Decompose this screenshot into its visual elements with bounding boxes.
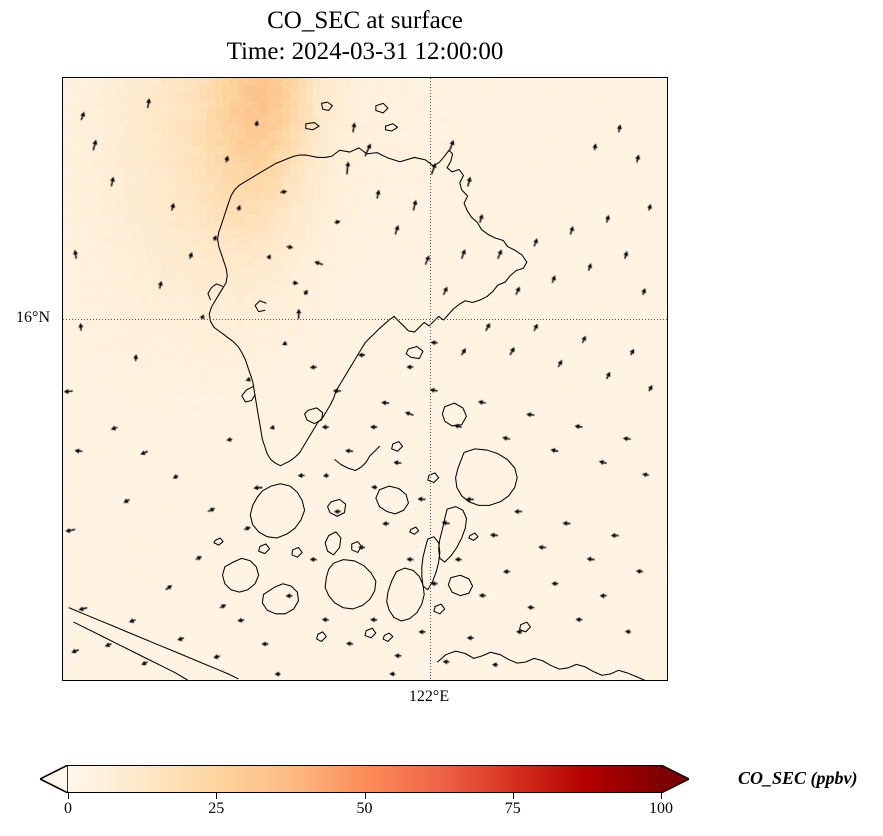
colorbar-ticklabel-75: 75 [505,800,521,818]
colorbar-extend-min-arrow-icon [40,765,68,793]
figure-title: CO_SEC at surface Time: 2024-03-31 12:00… [0,6,730,67]
colorbar[interactable]: 0255075100 CO_SEC (ppbv) [0,756,883,836]
colorbar-tick-50 [365,793,366,799]
xtick-122E [430,680,431,681]
gridline-latitude-16N [63,319,667,320]
colorbar-tick-25 [216,793,217,799]
gridline-longitude-122E [430,78,431,680]
colorbar-gradient [68,765,661,793]
colorbar-ticklabel-25: 25 [208,800,224,818]
title-line-time: Time: 2024-03-31 12:00:00 [0,37,730,68]
colorbar-axis-label: CO_SEC (ppbv) [738,768,858,789]
colorbar-tick-75 [513,793,514,799]
title-line-variable: CO_SEC at surface [0,6,730,37]
wind-vector-overlay [63,78,667,680]
colorbar-tick-100 [661,793,662,799]
ytick-label-16N: 16°N [0,309,50,327]
colorbar-extend-max-arrow-icon [661,765,689,793]
colorbar-ticklabel-50: 50 [357,800,373,818]
colorbar-body[interactable]: 0255075100 [68,765,661,793]
colorbar-ticklabel-100: 100 [649,800,673,818]
colorbar-tick-0 [68,793,69,799]
map-plot-area[interactable] [62,77,668,681]
colorbar-ticklabel-0: 0 [64,800,72,818]
xtick-label-122E: 122°E [409,688,449,706]
ytick-16N [62,319,63,320]
